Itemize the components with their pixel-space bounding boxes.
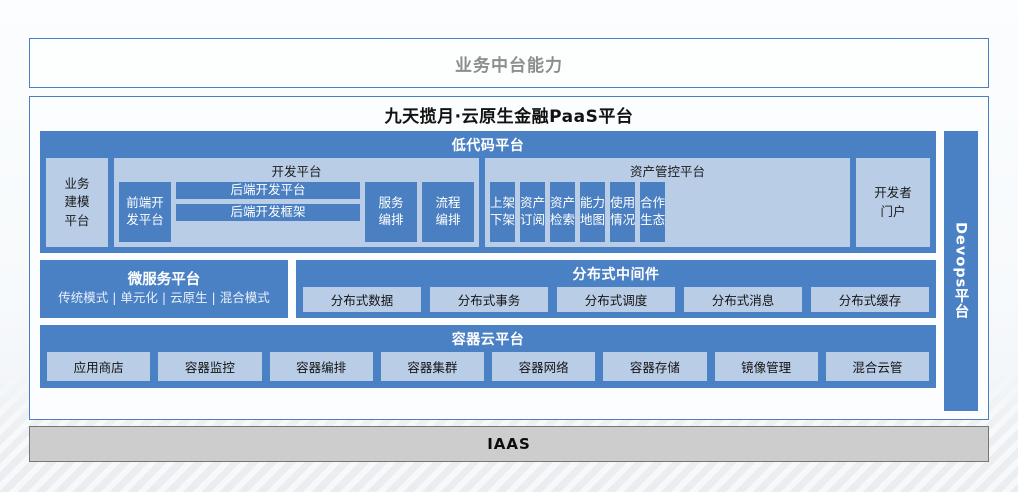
paas-platform-title: 九天揽月·云原生金融PaaS平台 — [30, 97, 988, 131]
process-orchestration-line-2: 编排 — [435, 212, 460, 229]
asset-item-ecosystem[interactable]: 合作 生态 — [640, 182, 665, 242]
distributed-middleware-title: 分布式中间件 — [296, 260, 936, 287]
container-item-cluster[interactable]: 容器集群 — [381, 352, 484, 381]
middleware-item-cache[interactable]: 分布式缓存 — [811, 287, 929, 312]
asset-management-platform-title: 资产管控平台 — [485, 158, 850, 182]
service-orchestration-line-2: 编排 — [378, 212, 403, 229]
container-cloud-items: 应用商店 容器监控 容器编排 容器集群 容器网络 容器存储 镜像管理 混合云管 — [40, 352, 936, 388]
service-orchestration-line-1: 服务 — [378, 195, 403, 212]
process-orchestration-box[interactable]: 流程 编排 — [422, 182, 474, 242]
container-cloud-section: 容器云平台 应用商店 容器监控 容器编排 容器集群 容器网络 容器存储 镜像管理… — [40, 325, 936, 388]
frontend-dev-line-2: 发平台 — [126, 212, 164, 229]
business-modeling-line-2: 建模 — [64, 193, 89, 211]
backend-dev-platform-box[interactable]: 后端开发平台 — [176, 182, 360, 199]
container-item-storage[interactable]: 容器存储 — [603, 352, 706, 381]
container-cloud-title: 容器云平台 — [40, 325, 936, 352]
dev-platform-panel: 开发平台 前端开 发平台 后端开发平台 — [114, 158, 479, 247]
asset-item-ecosystem-line-1: 合作 — [640, 195, 665, 212]
paas-platform-frame: 九天揽月·云原生金融PaaS平台 低代码平台 业务 建模 平台 — [29, 96, 989, 420]
dev-platform-title: 开发平台 — [114, 158, 479, 182]
business-modeling-line-1: 业务 — [64, 175, 89, 193]
lowcode-platform-title: 低代码平台 — [46, 131, 930, 158]
container-item-network[interactable]: 容器网络 — [492, 352, 595, 381]
distributed-middleware-section: 分布式中间件 分布式数据 分布式事务 分布式调度 分布式消息 分布式缓存 — [296, 260, 936, 318]
asset-item-usage[interactable]: 使用 情况 — [610, 182, 635, 242]
asset-item-search[interactable]: 资产 检索 — [550, 182, 575, 242]
asset-item-listing[interactable]: 上架 下架 — [490, 182, 515, 242]
service-orchestration-box[interactable]: 服务 编排 — [365, 182, 417, 242]
developer-portal-box[interactable]: 开发者 门户 — [856, 158, 930, 247]
container-item-app-store[interactable]: 应用商店 — [47, 352, 150, 381]
container-item-monitoring[interactable]: 容器监控 — [158, 352, 261, 381]
asset-management-platform-panel: 资产管控平台 上架 下架 资产 — [485, 158, 850, 247]
asset-management-items: 上架 下架 资产 订阅 — [485, 182, 850, 247]
developer-portal-line-2: 门户 — [874, 203, 912, 221]
devops-platform-strip[interactable]: Devops平台 — [944, 131, 978, 411]
process-orchestration-line-1: 流程 — [435, 195, 460, 212]
business-middle-platform-band: 业务中台能力 — [29, 38, 989, 88]
iaas-band: IAAS — [29, 426, 989, 462]
asset-item-usage-line-2: 情况 — [610, 212, 635, 229]
middleware-item-data[interactable]: 分布式数据 — [303, 287, 421, 312]
microservice-platform-title: 微服务平台 — [128, 271, 201, 289]
asset-item-capability-map[interactable]: 能力 地图 — [580, 182, 605, 242]
middleware-item-message[interactable]: 分布式消息 — [684, 287, 802, 312]
container-item-hybrid-cloud[interactable]: 混合云管 — [826, 352, 929, 381]
asset-item-ecosystem-line-2: 生态 — [640, 212, 665, 229]
asset-item-search-line-2: 检索 — [550, 212, 575, 229]
container-item-orchestration[interactable]: 容器编排 — [270, 352, 373, 381]
asset-item-usage-line-1: 使用 — [610, 195, 635, 212]
asset-item-capability-map-line-1: 能力 — [580, 195, 605, 212]
microservice-platform-modes: 传统模式 | 单元化 | 云原生 | 混合模式 — [58, 290, 269, 307]
middleware-item-scheduling[interactable]: 分布式调度 — [557, 287, 675, 312]
microservice-middleware-row: 微服务平台 传统模式 | 单元化 | 云原生 | 混合模式 分布式中间件 分布式… — [40, 260, 936, 318]
paas-platform-body: 低代码平台 业务 建模 平台 开发平台 — [40, 131, 978, 411]
middleware-item-transaction[interactable]: 分布式事务 — [430, 287, 548, 312]
asset-item-subscription-line-1: 资产 — [520, 195, 545, 212]
asset-item-subscription-line-2: 订阅 — [520, 212, 545, 229]
asset-item-listing-line-1: 上架 — [490, 195, 515, 212]
backend-dev-stack: 后端开发平台 后端开发框架 — [176, 182, 360, 242]
devops-platform-label: Devops平台 — [951, 222, 972, 319]
lowcode-platform-section: 低代码平台 业务 建模 平台 开发平台 — [40, 131, 936, 253]
architecture-diagram: 业务中台能力 九天揽月·云原生金融PaaS平台 低代码平台 业务 建模 平台 — [0, 0, 1018, 492]
container-item-image-management[interactable]: 镜像管理 — [715, 352, 818, 381]
asset-item-capability-map-line-2: 地图 — [580, 212, 605, 229]
asset-item-subscription[interactable]: 资产 订阅 — [520, 182, 545, 242]
asset-item-search-line-1: 资产 — [550, 195, 575, 212]
developer-portal-line-1: 开发者 — [874, 184, 912, 202]
frontend-dev-line-1: 前端开 — [126, 195, 164, 212]
business-modeling-line-3: 平台 — [64, 212, 89, 230]
microservice-platform-section[interactable]: 微服务平台 传统模式 | 单元化 | 云原生 | 混合模式 — [40, 260, 288, 318]
paas-main-column: 低代码平台 业务 建模 平台 开发平台 — [40, 131, 936, 411]
frontend-dev-platform-box[interactable]: 前端开 发平台 — [119, 182, 171, 242]
business-middle-platform-title: 业务中台能力 — [455, 51, 563, 76]
distributed-middleware-items: 分布式数据 分布式事务 分布式调度 分布式消息 分布式缓存 — [296, 287, 936, 318]
dev-platform-items: 前端开 发平台 后端开发平台 后端开发框架 — [114, 182, 479, 247]
iaas-title: IAAS — [487, 435, 531, 453]
business-modeling-platform-box[interactable]: 业务 建模 平台 — [46, 158, 108, 247]
backend-dev-framework-box[interactable]: 后端开发框架 — [176, 204, 360, 221]
asset-item-listing-line-2: 下架 — [490, 212, 515, 229]
lowcode-platform-row: 业务 建模 平台 开发平台 前端开 — [46, 158, 930, 247]
